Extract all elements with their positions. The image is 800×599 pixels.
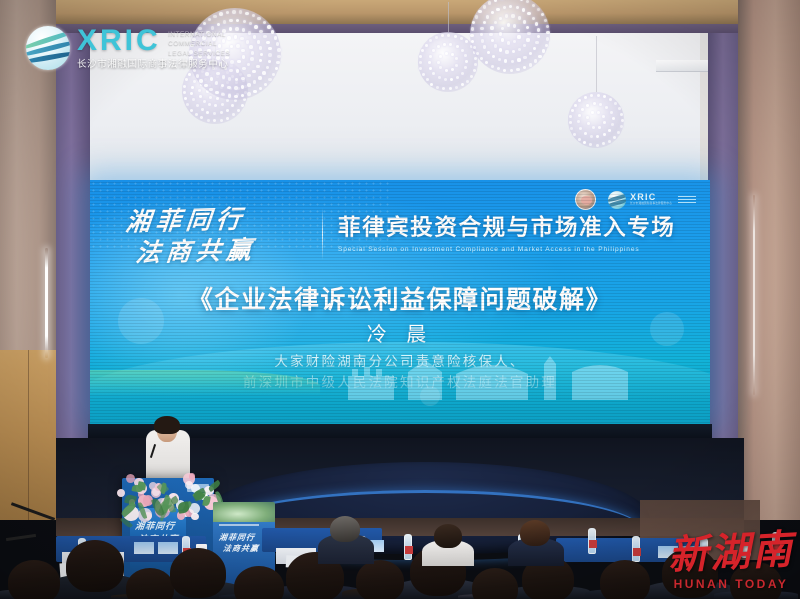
crystal-bead	[209, 61, 213, 65]
crystal-bead	[429, 55, 432, 58]
audience-head	[520, 520, 550, 546]
audience-head	[170, 548, 226, 598]
crystal-bead	[526, 38, 529, 41]
crystal-bead	[456, 76, 459, 79]
crystal-bead	[537, 28, 540, 31]
crystal-bead	[460, 37, 463, 40]
crystal-bead	[542, 49, 545, 52]
crystal-bead	[478, 10, 481, 13]
crystal-bead	[193, 69, 197, 73]
crystal-bead	[578, 138, 581, 141]
crystal-bead	[587, 122, 590, 125]
audience-head	[234, 566, 284, 599]
audience-head	[600, 560, 650, 599]
crystal-bead	[483, 21, 486, 24]
audience-head	[66, 540, 124, 592]
crystal-bead	[277, 55, 281, 59]
xric-logo-label: XRIC	[630, 193, 672, 202]
crystal-bead	[546, 31, 549, 34]
crystal-bead	[529, 63, 532, 66]
crystal-bead	[276, 42, 280, 46]
crystal-bead	[246, 40, 250, 44]
banner-rule	[219, 524, 259, 526]
crystal-bead	[481, 39, 484, 42]
crystal-bead	[267, 25, 271, 29]
crystal-bead	[523, 20, 526, 23]
screen-bubble	[118, 298, 164, 344]
crystal-bead	[490, 26, 493, 29]
crystal-bead	[251, 51, 255, 55]
crystal-bead	[507, 41, 510, 44]
crystal-bead	[199, 79, 203, 83]
crystal-bead	[245, 12, 249, 16]
crystal-bead	[254, 25, 258, 29]
crystal-bead	[534, 59, 537, 62]
screen-logo-row: XRIC 长沙市湘融国际商事法律服务中心	[575, 189, 696, 210]
crystal-bead	[248, 31, 252, 35]
crystal-bead	[247, 92, 251, 96]
crystal-bead	[609, 98, 612, 101]
crystal-bead	[437, 45, 440, 48]
crystal-bead	[435, 36, 438, 39]
crystal-bead	[529, 52, 532, 55]
crystal-bead	[590, 135, 593, 138]
crystal-bead	[242, 55, 246, 59]
name-card	[134, 542, 154, 554]
crystal-bead	[535, 41, 538, 44]
crystal-bead	[229, 19, 233, 23]
crystal-bead	[618, 107, 621, 110]
crystal-bead	[222, 75, 226, 79]
crystal-bead	[470, 34, 473, 37]
crystal-bead	[234, 86, 238, 90]
crystal-bead	[461, 49, 464, 52]
water-bottle	[772, 532, 780, 558]
crystal-bead	[236, 69, 240, 73]
crystal-bead	[517, 35, 520, 38]
crystal-bead	[228, 94, 232, 98]
city-skyline-icon	[340, 356, 640, 400]
right-light-strip	[753, 195, 755, 395]
crystal-bead	[545, 44, 548, 47]
crystal-bead	[221, 93, 225, 97]
crystal-bead	[527, 32, 530, 35]
crystal-bead	[220, 111, 223, 114]
name-card	[158, 542, 178, 554]
crystal-bead	[426, 78, 429, 81]
crystal-bead	[483, 5, 486, 8]
crystal-bead	[537, 35, 540, 38]
crystal-bead	[224, 66, 228, 70]
crystal-bead	[546, 37, 549, 40]
presenter-hair	[154, 416, 180, 434]
crystal-bead	[516, 68, 519, 71]
crystal-bead	[201, 108, 204, 111]
watermark-english-lines: INTERNATIONAL COMMERCIAL LEGAL SERVICES	[168, 30, 230, 58]
water-bottle	[632, 536, 640, 562]
crystal-bead	[590, 94, 593, 97]
crystal-bead	[243, 20, 247, 24]
crystal-bead	[241, 77, 245, 81]
organization-seal-logo	[575, 189, 596, 210]
presentation-topic: 《企业法律诉讼利益保障问题破解》	[90, 280, 710, 316]
crystal-bead	[256, 65, 260, 69]
audience-head	[730, 562, 782, 599]
crystal-bead	[230, 60, 234, 64]
crystal-bead	[228, 77, 232, 81]
crystal-bead	[491, 11, 494, 14]
crystal-bead	[437, 61, 440, 64]
crystal-bead	[253, 90, 257, 94]
left-light-strip	[45, 248, 48, 358]
ceiling-wood-beam	[0, 0, 800, 24]
flower-arrangement	[112, 472, 222, 526]
crystal-bead	[266, 41, 270, 45]
crystal-bead	[259, 30, 263, 34]
crystal-bead	[603, 133, 606, 136]
wall-seam	[28, 350, 29, 520]
crystal-bead	[451, 53, 454, 56]
crystal-bead	[499, 32, 502, 35]
crystal-bead	[612, 117, 615, 120]
crystal-bead	[454, 35, 457, 38]
crystal-bead	[471, 27, 474, 30]
crystal-bead	[596, 144, 599, 147]
screen-bubble	[420, 386, 440, 406]
crystal-bead	[436, 86, 439, 89]
crystal-bead	[205, 72, 209, 76]
crystal-bead	[470, 75, 473, 78]
flower-blossom	[185, 481, 193, 489]
crystal-bead	[480, 27, 483, 30]
xric-logo-sublabel: 长沙市湘融国际商事法律服务中心	[630, 203, 672, 206]
air-vent	[656, 60, 714, 72]
crystal-bead	[196, 74, 200, 78]
crystal-bead	[579, 127, 582, 130]
logo-bars-icon	[678, 196, 696, 203]
crystal-bead	[253, 35, 257, 39]
crystal-bead	[220, 119, 223, 122]
chandelier-5	[568, 36, 624, 148]
xric-logo: XRIC 长沙市湘融国际商事法律服务中心	[608, 191, 696, 209]
crystal-bead	[532, 17, 535, 20]
crystal-bead	[235, 27, 239, 31]
crystal-bead	[537, 8, 540, 11]
crystal-bead	[574, 104, 577, 107]
crystal-bead	[533, 47, 536, 50]
audience-head	[472, 568, 518, 599]
crystal-bead	[204, 84, 208, 88]
flower-leaf	[207, 480, 221, 492]
crystal-bead	[461, 72, 464, 75]
crystal-bead	[247, 74, 251, 78]
flower-leaf	[168, 503, 177, 512]
crystal-bead	[475, 15, 478, 18]
crystal-bead	[227, 86, 231, 90]
crystal-bead	[489, 33, 492, 36]
audience-head	[8, 560, 60, 599]
crystal-bead	[250, 57, 254, 61]
session-title-en: Special Session on Investment Compliance…	[338, 246, 698, 253]
globe-logo-icon	[608, 191, 626, 209]
crystal-bead	[241, 49, 245, 53]
crystal-bead	[195, 113, 198, 116]
banner-image	[213, 502, 275, 522]
audience-head	[662, 548, 718, 598]
crystal-bead	[591, 111, 594, 114]
crystal-bead	[210, 77, 214, 81]
crystal-bead	[518, 16, 521, 19]
crystal-bead	[219, 12, 223, 16]
crystal-bead	[510, 69, 513, 72]
crystal-bead	[247, 83, 251, 87]
crystal-bead	[183, 91, 186, 94]
crystal-bead	[544, 19, 547, 22]
crystal-bead	[617, 131, 620, 134]
crystal-bead	[511, 60, 514, 63]
crystal-bead	[258, 76, 262, 80]
crystal-bead	[276, 61, 280, 65]
crystal-bead	[209, 88, 213, 92]
crystal-bead	[215, 81, 219, 85]
crystal-bead	[219, 62, 223, 66]
crystal-bead	[546, 25, 549, 28]
calligraphy-line-1: 湘菲同行	[124, 202, 318, 238]
crystal-bead	[578, 114, 581, 117]
crystal-bead	[268, 53, 272, 57]
flower-blossom	[189, 473, 195, 479]
crystal-bead	[610, 111, 613, 114]
crystal-bead	[523, 56, 526, 59]
crystal-bead	[422, 73, 425, 76]
paper-cup	[740, 546, 751, 558]
crystal-bead	[455, 64, 458, 67]
crystal-bead	[242, 28, 246, 32]
session-title-zh: 菲律宾投资合规与市场准入专场	[338, 210, 698, 242]
calligraphy-line-2: 法商共赢	[134, 233, 318, 269]
chandelier-4	[418, 2, 478, 92]
bottle-label	[589, 540, 597, 548]
crystal-bead	[229, 69, 233, 73]
crystal-bead	[237, 109, 240, 112]
crystal-bead	[583, 141, 586, 144]
crystal-bead	[603, 95, 606, 98]
conference-photo: XRIC 长沙市湘融国际商事法律服务中心 湘菲同行 法商共赢 菲律宾投资合规与市…	[0, 0, 800, 599]
crystal-bead	[241, 104, 244, 107]
crystal-bead	[584, 96, 587, 99]
bottle-label	[405, 546, 413, 554]
crystal-bead	[217, 23, 221, 27]
crystal-bead	[466, 80, 469, 83]
audience-head	[434, 524, 462, 548]
crystal-bead	[207, 119, 210, 122]
right-wall-panel	[738, 0, 800, 520]
session-title-block: 菲律宾投资合规与市场准入专场 Special Session on Invest…	[338, 210, 698, 253]
crystal-bead	[268, 47, 272, 51]
screen-calligraphy: 湘菲同行 法商共赢	[126, 204, 316, 267]
crystal-bead	[221, 103, 224, 106]
crystal-bead	[428, 61, 431, 64]
calligraphy-divider	[322, 208, 323, 260]
bottle-label	[773, 544, 781, 552]
crystal-bead	[268, 60, 272, 64]
upper-wall	[40, 33, 760, 183]
audience-head	[330, 516, 360, 542]
crystal-bead	[532, 4, 535, 7]
crystal-bead	[203, 100, 206, 103]
chandelier-wire	[448, 2, 449, 32]
water-bottle	[404, 534, 412, 560]
crystal-bead	[494, 21, 497, 24]
crystal-bead	[191, 63, 195, 67]
crystal-bead	[236, 44, 240, 48]
crystal-bead	[216, 72, 220, 76]
rollup-banner-line-2: 法商共赢	[222, 543, 260, 554]
flower-blossom	[117, 489, 126, 498]
led-presentation-screen: XRIC 长沙市湘融国际商事法律服务中心 湘菲同行 法商共赢 菲律宾投资合规与市…	[90, 180, 710, 426]
crystal-bead	[496, 8, 499, 11]
crystal-bead	[235, 78, 239, 82]
crystal-bead	[262, 71, 266, 75]
crystal-bead	[503, 6, 506, 9]
crystal-bead	[234, 95, 238, 99]
watermark-en-line-3: LEGAL SERVICES	[168, 49, 230, 58]
crystal-bead	[196, 104, 199, 107]
crystal-bead	[498, 58, 501, 61]
crystal-bead	[445, 52, 448, 55]
flower-blossom	[126, 474, 135, 483]
crystal-bead	[277, 48, 281, 52]
crystal-bead	[240, 37, 244, 41]
crystal-bead	[232, 10, 236, 14]
crystal-bead	[429, 67, 432, 70]
crystal-bead	[593, 102, 596, 105]
crystal-bead	[237, 60, 241, 64]
water-bottle	[588, 528, 596, 554]
crystal-bead	[190, 109, 193, 112]
crystal-bead	[621, 119, 624, 122]
crystal-bead	[614, 102, 617, 105]
crystal-bead	[213, 15, 217, 19]
audience-head	[356, 560, 404, 599]
crystal-bead	[464, 54, 467, 57]
crystal-bead	[223, 20, 227, 24]
crystal-bead	[494, 44, 497, 47]
crystal-bead	[249, 45, 253, 49]
crystal-bead	[274, 36, 278, 40]
crystal-bead	[511, 14, 514, 17]
crystal-bead	[620, 113, 623, 116]
crystal-bead	[491, 65, 494, 68]
chandelier-3	[470, 0, 550, 74]
crystal-bead	[456, 45, 459, 48]
watermark-en-line-2: COMMERCIAL	[168, 39, 230, 48]
crystal-bead	[597, 94, 600, 97]
crystal-bead	[517, 58, 520, 61]
crystal-bead	[535, 22, 538, 25]
crystal-bead	[513, 24, 516, 27]
crystal-bead	[505, 14, 508, 17]
crystal-bead	[499, 17, 502, 20]
crystal-bead	[584, 132, 587, 135]
crystal-bead	[486, 15, 489, 18]
crystal-bead	[608, 140, 611, 143]
crystal-bead	[425, 44, 428, 47]
bottle-label	[633, 548, 641, 556]
screen-bubble	[650, 312, 684, 346]
crystal-bead	[620, 125, 623, 128]
crystal-bead	[213, 112, 216, 115]
floor-cable	[6, 534, 36, 541]
crystal-bead	[507, 23, 510, 26]
rollup-banner-line-1: 湘菲同行	[218, 532, 256, 543]
crystal-bead	[215, 91, 219, 95]
crystal-bead	[257, 40, 261, 44]
crystal-bead	[184, 97, 187, 100]
crystal-bead	[522, 8, 525, 11]
crystal-bead	[438, 76, 441, 79]
crystal-bead	[505, 50, 508, 53]
crystal-bead	[527, 12, 530, 15]
crystal-bead	[538, 55, 541, 58]
crystal-bead	[491, 39, 494, 42]
chandelier-wire	[596, 36, 597, 92]
crystal-bead	[571, 109, 574, 112]
crystal-bead	[226, 109, 229, 112]
crystal-bead	[241, 85, 245, 89]
crystal-bead	[569, 115, 572, 118]
watermark-en-line-1: INTERNATIONAL	[168, 30, 230, 39]
crystal-bead	[443, 43, 446, 46]
crystal-bead	[419, 61, 422, 64]
crystal-bead	[183, 85, 186, 88]
crystal-bead	[242, 67, 246, 71]
crystal-bead	[608, 129, 611, 132]
crystal-bead	[444, 78, 447, 81]
